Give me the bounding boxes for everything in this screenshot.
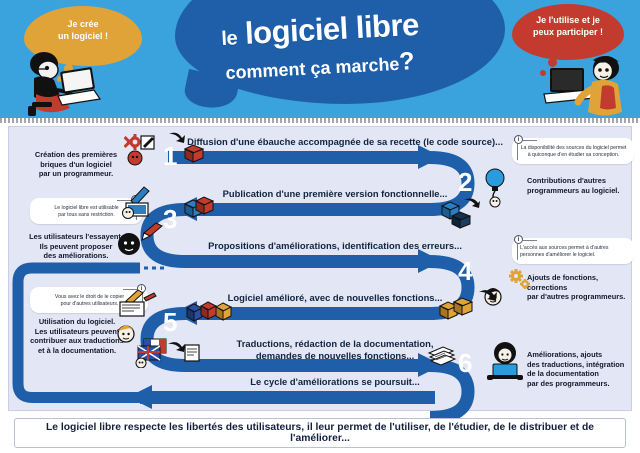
tooltip-etudier-line1: La disponibilité des sources du logiciel… — [520, 145, 627, 152]
step-number-3: 3 — [163, 204, 177, 235]
package-box-icon — [186, 300, 240, 326]
programmer-illustration — [14, 50, 110, 118]
tooltip-utiliser-line1: Le logiciel libre est utilisable — [38, 205, 135, 212]
face-icon — [116, 320, 136, 344]
footer-text: Le logiciel libre respecte les libertés … — [14, 418, 626, 448]
note-right-ajouts: Ajouts de fonctions, corrections par d'a… — [527, 273, 637, 302]
user-thought-line1: Je l'utilise et je — [512, 14, 624, 26]
programmer-thought-line1: Je crée — [24, 18, 142, 30]
note-left-creation-line1: Création des premières — [16, 150, 136, 160]
note-right-ajouts-line2: par d'autres programmeurs. — [527, 292, 637, 302]
info-icon: i — [514, 135, 523, 144]
document-icon — [426, 345, 458, 371]
tooltip-etudier: i La disponibilité des sources du logici… — [512, 138, 634, 164]
user-thought-line2: peux participer ! — [512, 26, 624, 38]
note-right-ameliorations: Améliorations, ajouts des traductions, i… — [527, 350, 633, 388]
step-caption-6: Le cycle d'améliorations se poursuit... — [180, 376, 490, 388]
package-box-icon — [183, 142, 205, 164]
document-icon — [168, 340, 202, 364]
tooltip-stem — [517, 244, 518, 260]
note-right-contributions: Contributions d'autres programmeurs au l… — [527, 176, 635, 195]
flags-icon — [134, 338, 168, 368]
note-left-utilisation-line4: et à la documentation. — [12, 346, 142, 356]
tooltip-etudier-line2: à quiconque d'en étudier sa conception. — [520, 152, 627, 159]
note-right-contributions-line2: programmeurs au logiciel. — [527, 186, 635, 196]
face-icon — [116, 230, 142, 256]
header-divider — [0, 118, 640, 123]
tooltip-leader-line — [523, 140, 537, 141]
lightbulb-icon — [484, 168, 506, 208]
pen-icon — [140, 222, 164, 242]
note-right-ameliorations-line4: par des programmeurs. — [527, 379, 633, 389]
package-box-icon — [438, 294, 478, 328]
user-thought-text: Je l'utilise et je peux participer ! — [512, 14, 624, 38]
header-banner: le logiciel libre comment ça marche? Je … — [0, 0, 640, 118]
programmer-thought-line2: un logiciel ! — [24, 30, 142, 42]
tooltip-ameliorer: i L'accès aux sources permet à d'autres … — [512, 238, 634, 264]
note-right-ameliorations-line2: des traductions, intégration — [527, 360, 633, 370]
tooltip-stem — [517, 144, 518, 160]
step-number-5: 5 — [163, 307, 177, 338]
gear-icon — [508, 268, 532, 292]
infographic-page: le logiciel libre comment ça marche? Je … — [0, 0, 640, 453]
note-left-creation-line3: par un programmeur. — [16, 169, 136, 179]
tooltip-ameliorer-line2: personnes d'améliorer le logiciel. — [520, 252, 627, 259]
programmer-thought-text: Je crée un logiciel ! — [24, 18, 142, 42]
note-left-creation: Création des premières briques d'un logi… — [16, 150, 136, 179]
person-laptop-icon — [486, 342, 524, 382]
package-box-icon — [184, 196, 214, 220]
note-left-creation-line2: briques d'un logiciel — [16, 160, 136, 170]
step-number-4: 4 — [458, 256, 472, 287]
user-illustration — [536, 52, 628, 118]
note-right-contributions-line1: Contributions d'autres — [527, 176, 635, 186]
step-caption-1: Diffusion d'une ébauche accompagnée de s… — [180, 136, 510, 148]
note-right-ameliorations-line3: de la documentation — [527, 369, 633, 379]
tooltip-utiliser-line2: par tous sans restriction. — [38, 212, 135, 219]
note-right-ajouts-line1: Ajouts de fonctions, corrections — [527, 273, 637, 292]
package-box-icon — [440, 196, 480, 230]
info-icon: i — [514, 235, 523, 244]
gear-icon — [124, 133, 158, 167]
tooltip-ameliorer-line1: L'accès aux sources permet à d'autres — [520, 245, 627, 252]
step-caption-3: Propositions d'améliorations, identifica… — [180, 240, 490, 252]
tooltip-leader-line — [523, 240, 537, 241]
note-right-ameliorations-line1: Améliorations, ajouts — [527, 350, 633, 360]
pen-icon — [122, 186, 158, 220]
document-icon — [118, 288, 158, 322]
hand-pointer-icon — [478, 288, 498, 304]
